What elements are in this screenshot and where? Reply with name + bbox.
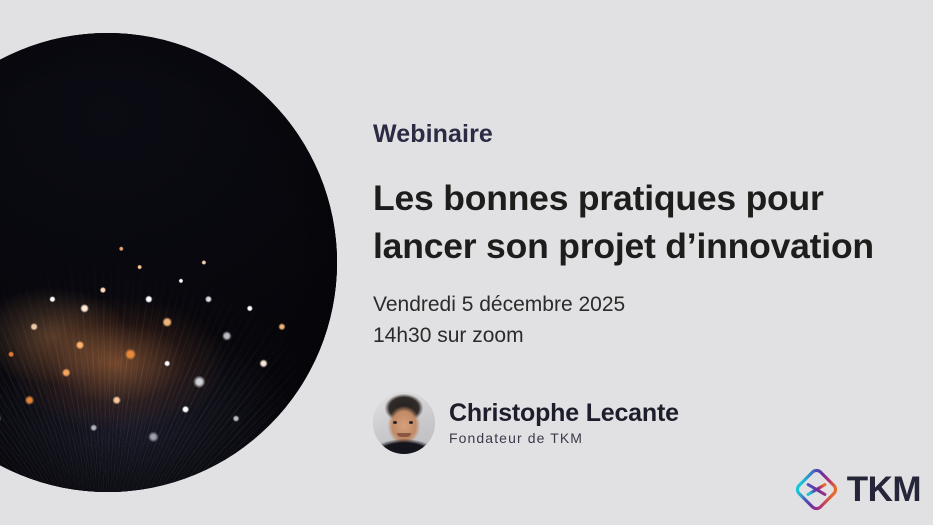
- speaker-role: Fondateur de TKM: [449, 429, 679, 447]
- tkm-wordmark: TKM: [847, 470, 921, 510]
- headline-line-2: lancer son projet d’innovation: [373, 222, 933, 270]
- webinar-slide: Webinaire Les bonnes pratiques pour lanc…: [0, 0, 933, 525]
- content-column: Webinaire Les bonnes pratiques pour lanc…: [373, 0, 933, 525]
- event-date: Vendredi 5 décembre 2025: [373, 289, 625, 320]
- avatar: [373, 392, 435, 454]
- eyebrow-label: Webinaire: [373, 120, 493, 149]
- event-time: 14h30 sur zoom: [373, 320, 625, 351]
- tkm-logo: TKM: [793, 466, 921, 513]
- speaker-text: Christophe Lecante Fondateur de TKM: [449, 399, 679, 447]
- hero-image-circle: [0, 33, 337, 492]
- avatar-photo: [373, 392, 435, 454]
- headline-line-1: Les bonnes pratiques pour: [373, 174, 933, 222]
- event-details: Vendredi 5 décembre 2025 14h30 sur zoom: [373, 289, 625, 351]
- avatar-eye-right: [409, 421, 413, 424]
- avatar-eye-left: [393, 421, 397, 424]
- hero-vignette: [0, 33, 337, 492]
- avatar-mouth: [397, 433, 411, 437]
- tkm-diamond-asterisk-icon: [793, 466, 840, 513]
- speaker-block: Christophe Lecante Fondateur de TKM: [373, 392, 679, 454]
- page-title: Les bonnes pratiques pour lancer son pro…: [373, 174, 933, 270]
- speaker-name: Christophe Lecante: [449, 399, 679, 427]
